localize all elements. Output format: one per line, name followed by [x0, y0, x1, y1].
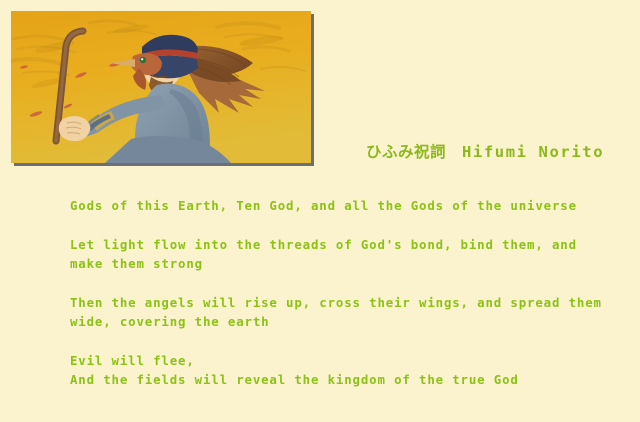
verse-line: Gods of this Earth, Ten God, and all the…: [70, 196, 620, 215]
page-title: ひふみ祝詞Hifumi Norito: [366, 140, 604, 162]
illustration-artwork: [11, 11, 311, 163]
illustration-image: [11, 11, 311, 163]
verse-line: Evil will flee,: [70, 351, 620, 370]
verse-line: make them strong: [70, 254, 620, 273]
title-romaji: Hifumi Norito: [462, 143, 604, 161]
verse-stanza: Gods of this Earth, Ten God, and all the…: [70, 196, 620, 215]
verse-stanza: Then the angels will rise up, cross thei…: [70, 293, 620, 331]
title-japanese: ひふみ祝詞: [366, 143, 446, 161]
verse-line: Then the angels will rise up, cross thei…: [70, 293, 620, 312]
prayer-text-block: Gods of this Earth, Ten God, and all the…: [70, 196, 620, 389]
verse-stanza: Evil will flee, And the fields will reve…: [70, 351, 620, 389]
illustration-container: [11, 11, 311, 163]
verse-line: wide, covering the earth: [70, 312, 620, 331]
verse-stanza: Let light flow into the threads of God's…: [70, 235, 620, 273]
page-root: ひふみ祝詞Hifumi Norito Gods of this Earth, T…: [0, 0, 640, 422]
verse-line: Let light flow into the threads of God's…: [70, 235, 620, 254]
verse-line: And the fields will reveal the kingdom o…: [70, 370, 620, 389]
